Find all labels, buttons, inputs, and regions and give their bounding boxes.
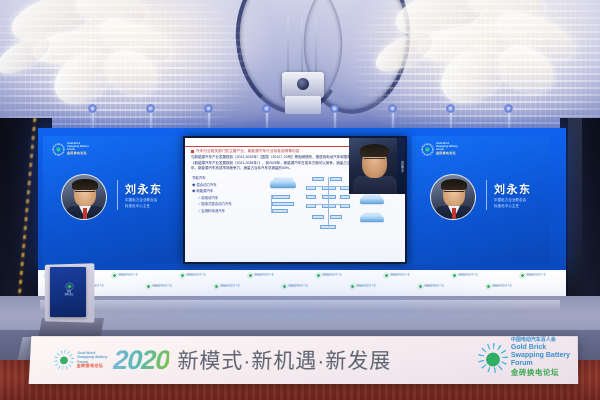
forum-logo-icon xyxy=(52,143,65,156)
list-item: 氢燃料电池汽车 xyxy=(198,208,265,214)
banner-right-logo: 中国电动汽车百人会 Gold Brick Swapping Battery Fo… xyxy=(478,338,570,377)
banner-logo-cn: 金砖换电论坛 xyxy=(77,364,108,369)
sponsor-logo-line2: CHINA EV 100 xyxy=(458,276,478,278)
forum-logo-icon xyxy=(53,350,74,370)
speaker-panel-left: Gold Brick Swapping Battery Forum 金砖换电论坛… xyxy=(43,136,181,264)
speaker-role: 中国电力企业联合会 标准化中心主任 xyxy=(125,198,177,210)
live-badge: 直播中 xyxy=(397,138,405,194)
banner-right-en-2: Swapping Battery xyxy=(511,352,570,360)
sponsor-logo-line2: CHINA EV 100 xyxy=(390,276,410,278)
speaker-panel-right: Gold Brick Swapping Battery Forum 金砖换电论坛… xyxy=(412,136,550,264)
banner-right-en-1: Gold Brick xyxy=(511,344,570,352)
sponsor-logo-line2: CHINA EV 100 xyxy=(322,276,342,278)
sponsor-logo-line2: CHINA EV 100 xyxy=(424,287,444,289)
sponsor-logo-icon xyxy=(112,273,117,278)
sponsor-logo-line2: CHINA EV 100 xyxy=(526,276,546,278)
sponsor-logo-line2: CHINA EV 100 xyxy=(254,276,274,278)
sponsor-logo-icon xyxy=(350,284,355,289)
panel-logo-left: Gold Brick Swapping Battery Forum 金砖换电论坛 xyxy=(52,143,89,156)
banner-year: 2020 xyxy=(113,345,170,376)
forum-logo-icon xyxy=(478,343,508,373)
banner-right-cn: 金砖换电论坛 xyxy=(511,369,570,378)
avatar xyxy=(61,174,107,220)
forum-logo-icon xyxy=(66,283,73,290)
stage-front-banner: Gold Brick Swapping Battery Forum 金砖换电论坛… xyxy=(29,336,579,384)
glasses-icon xyxy=(364,158,385,163)
podium-logo-line2: 换电论坛 xyxy=(60,294,78,297)
avatar xyxy=(430,174,476,220)
sponsor-logo-icon xyxy=(214,284,219,289)
glasses-icon xyxy=(444,191,464,196)
banner-left-logo: Gold Brick Swapping Battery Forum 金砖换电论坛 xyxy=(53,350,107,370)
sponsor-logo-icon xyxy=(452,273,457,278)
sponsor-logo-icon xyxy=(384,273,389,278)
panel-logo-cn: 金砖换电论坛 xyxy=(436,152,458,155)
speaker-name: 刘永东 xyxy=(494,181,532,197)
sponsor-logo-line2: CHINA EV 100 xyxy=(186,276,206,278)
sponsor-logo-icon xyxy=(248,273,253,278)
sponsor-logo-icon xyxy=(316,273,321,278)
speaker-role-line2: 标准化中心主任 xyxy=(494,204,546,210)
sponsor-logo-line2: CHINA EV 100 xyxy=(356,287,376,289)
presentation-slide: 汽车行业相关部门的主管产业、新能源汽车行业标准说明等内容 与新能源汽车产业发展规… xyxy=(185,138,405,262)
speaker-name: 刘永东 xyxy=(125,181,163,197)
projector-housing xyxy=(285,96,321,114)
presentation-screen-bezel: 汽车行业相关部门的主管产业、新能源汽车行业标准说明等内容 与新能源汽车产业发展规… xyxy=(183,136,407,264)
sponsor-logo-icon xyxy=(180,273,185,278)
podium-logo: 金砖 换电论坛 xyxy=(60,283,78,296)
sponsor-logo-line2: CHINA EV 100 xyxy=(118,276,138,278)
sponsor-logo-icon xyxy=(418,284,423,289)
panel-divider xyxy=(117,180,118,210)
speaker-role-line2: 标准化中心主任 xyxy=(125,204,177,210)
forum-logo-icon xyxy=(421,143,434,156)
panel-divider xyxy=(486,180,487,210)
glasses-icon xyxy=(75,191,95,196)
conference-stage-photo: Gold Brick Swapping Battery Forum 金砖换电论坛… xyxy=(0,0,600,400)
sponsor-logo-icon xyxy=(282,284,287,289)
stage-floor-edge xyxy=(40,300,560,310)
sponsor-logo-line2: CHINA EV 100 xyxy=(288,287,308,289)
sponsor-logo-icon xyxy=(146,284,151,289)
sponsor-logo-line2: CHINA EV 100 xyxy=(152,287,172,289)
panel-logo-right: Gold Brick Swapping Battery Forum 金砖换电论坛 xyxy=(421,143,458,156)
speaker-role: 中国电力企业联合会 标准化中心主任 xyxy=(494,198,546,210)
slide-bullet-list: 节能汽车 混合动力汽车 新能源汽车 纯电动汽车 插电式混合动力汽车 氢燃料电池汽… xyxy=(191,175,265,235)
projector-lens-icon xyxy=(297,78,309,90)
projector-mount-rods xyxy=(287,18,317,76)
sponsor-logo-icon xyxy=(520,273,525,278)
banner-slogan: 新模式·新机遇·新发展 xyxy=(177,345,392,375)
sponsor-logo-line2: CHINA EV 100 xyxy=(492,287,512,289)
sponsor-logo-line2: CHINA EV 100 xyxy=(220,287,240,289)
sponsor-logo-icon xyxy=(486,284,491,289)
panel-logo-cn: 金砖换电论坛 xyxy=(67,152,89,155)
live-video-inset: 直播中 xyxy=(349,138,405,194)
